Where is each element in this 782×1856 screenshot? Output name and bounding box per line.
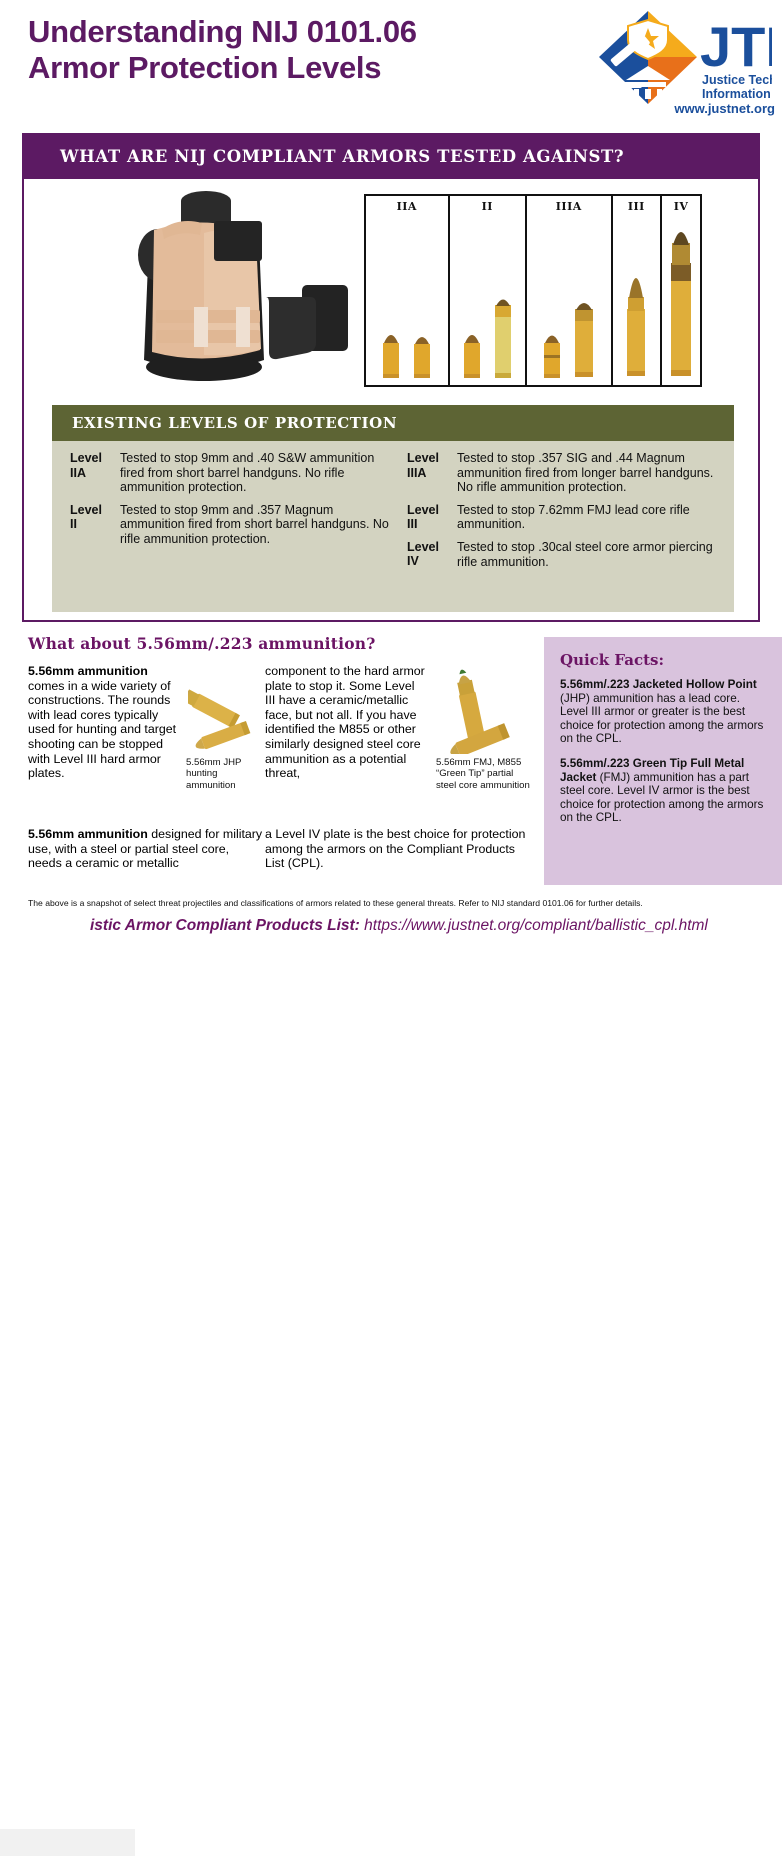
level-value: IV <box>407 554 457 569</box>
ammo-section-heading: What about 5.56mm/.223 ammunition? <box>28 634 376 653</box>
page-title-line1: Understanding NIJ 0101.06 <box>28 14 417 49</box>
ammo-column-ii: II <box>450 196 528 385</box>
ammo-p2-bold: 5.56mm ammunition <box>28 827 148 841</box>
ammo-text-column-a: 5.56mm ammunition comes in a wide variet… <box>28 664 180 781</box>
level-key: Level IIA <box>70 451 120 495</box>
level-item: Level IIIA Tested to stop .357 SIG and .… <box>407 451 727 495</box>
existing-levels-heading: EXISTING LEVELS OF PROTECTION <box>72 414 397 432</box>
existing-levels-panel: EXISTING LEVELS OF PROTECTION Level IIA … <box>52 405 734 612</box>
level-item: Level II Tested to stop 9mm and .357 Mag… <box>70 503 390 547</box>
ammo-column-iia: IIA <box>366 196 450 385</box>
tested-against-heading: WHAT ARE NIJ COMPLIANT ARMORS TESTED AGA… <box>60 147 624 166</box>
quick-fact-item: 5.56mm/.223 Green Tip Full Metal Jacket … <box>560 757 766 825</box>
cartridge-762mm-icon <box>624 251 648 379</box>
threat-level-cartridge-table: IIA II <box>364 194 702 387</box>
level-word: Level <box>407 503 457 518</box>
tested-against-card: WHAT ARE NIJ COMPLIANT ARMORS TESTED AGA… <box>22 133 760 622</box>
level-key: Level IV <box>407 540 457 569</box>
level-word: Level <box>70 451 120 466</box>
level-item: Level IV Tested to stop .30cal steel cor… <box>407 540 727 569</box>
green-tip-cartridge-svg <box>434 664 534 754</box>
cartridge-357magnum-icon <box>492 287 514 379</box>
ammo-column-rounds <box>613 213 661 385</box>
existing-levels-header: EXISTING LEVELS OF PROTECTION <box>52 405 734 441</box>
ammo-column-label: III <box>613 196 661 213</box>
jhp-cartridge-svg <box>188 666 266 754</box>
footer-overlay-box <box>0 1829 135 1856</box>
level-value: IIIA <box>407 466 457 481</box>
ammo-column-rounds <box>450 213 526 385</box>
ammo-p1-rest: comes in a wide variety of constructions… <box>28 679 176 781</box>
footer-note: The above is a snapshot of select threat… <box>28 898 768 908</box>
level-key: Level IIIA <box>407 451 457 495</box>
level-value: IIA <box>70 466 120 481</box>
ammo-text-column-b: component to the hard armor plate to sto… <box>265 664 425 781</box>
cartridge-44magnum-icon <box>572 291 596 379</box>
ammo-column-label: IV <box>662 196 700 213</box>
photo-row: IIA II <box>34 185 752 395</box>
ammo-column-iiia: IIIA <box>527 196 612 385</box>
cartridge-30cal-ap-icon <box>668 219 694 379</box>
levels-column-right: Level IIIA Tested to stop .357 SIG and .… <box>407 451 727 577</box>
quick-facts-title: Quick Facts: <box>560 651 766 669</box>
level-word: Level <box>407 451 457 466</box>
ammo-column-rounds <box>366 213 448 385</box>
level-key: Level III <box>407 503 457 532</box>
level-item: Level III Tested to stop 7.62mm FMJ lead… <box>407 503 727 532</box>
cartridge-40sw-icon <box>411 319 433 379</box>
footer-cpl-url[interactable]: https://www.justnet.org/compliant/ballis… <box>360 917 708 934</box>
level-key: Level II <box>70 503 120 547</box>
logo-subtitle-1: Justice Technology <box>702 73 772 87</box>
page-title-line2: Armor Protection Levels <box>28 50 588 86</box>
level-description: Tested to stop 9mm and .357 Magnum ammun… <box>120 503 390 547</box>
ammo-text-column-b2: a Level IV plate is the best choice for … <box>265 827 530 871</box>
ammo-column-label: IIA <box>366 196 448 213</box>
cartridge-357sig-icon <box>541 321 563 379</box>
cartridge-9mm-icon <box>461 319 483 379</box>
quick-fact-rest: (JHP) ammunition has a lead core. Level … <box>560 692 763 746</box>
page-header: Understanding NIJ 0101.06 Armor Protecti… <box>0 0 782 128</box>
green-tip-cartridge-image <box>434 664 534 754</box>
vest-svg <box>54 185 354 395</box>
level-description: Tested to stop 7.62mm FMJ lead core rifl… <box>457 503 727 532</box>
existing-levels-body: Level IIA Tested to stop 9mm and .40 S&W… <box>52 441 734 612</box>
logo-subtitle-2: Information Center <box>702 87 772 101</box>
ammo-column-rounds <box>527 213 610 385</box>
footer-cpl-label: istic Armor Compliant Products List: <box>90 917 360 934</box>
level-item: Level IIA Tested to stop 9mm and .40 S&W… <box>70 451 390 495</box>
ammo-text-column-a2: 5.56mm ammunition designed for military … <box>28 827 263 871</box>
ammo-paragraph-1: 5.56mm ammunition comes in a wide variet… <box>28 664 180 781</box>
footer-cpl-link[interactable]: istic Armor Compliant Products List: htt… <box>90 917 708 935</box>
jhp-cartridge-caption: 5.56mm JHP hunting ammunition <box>186 757 264 791</box>
ammo-paragraph-2: 5.56mm ammunition designed for military … <box>28 827 263 871</box>
quick-fact-bold: 5.56mm/.223 Jacketed Hollow Point <box>560 678 757 691</box>
ammo-p1-bold: 5.56mm ammunition <box>28 664 148 678</box>
ammo-column-label: II <box>450 196 526 213</box>
cartridge-9mm-icon <box>380 319 402 379</box>
logo-wordmark: JTIC <box>700 15 772 78</box>
tested-against-header: WHAT ARE NIJ COMPLIANT ARMORS TESTED AGA… <box>24 135 758 179</box>
green-tip-cartridge-caption: 5.56mm FMJ, M855 “Green Tip” partial ste… <box>436 757 536 791</box>
level-word: Level <box>70 503 120 518</box>
level-description: Tested to stop .357 SIG and .44 Magnum a… <box>457 451 727 495</box>
logo-diamond-icon <box>599 11 697 104</box>
page-title: Understanding NIJ 0101.06 Armor Protecti… <box>28 14 588 86</box>
quick-fact-item: 5.56mm/.223 Jacketed Hollow Point (JHP) … <box>560 678 766 746</box>
infographic-page: Understanding NIJ 0101.06 Armor Protecti… <box>0 0 782 943</box>
level-description: Tested to stop .30cal steel core armor p… <box>457 540 727 569</box>
ammo-paragraph-3: component to the hard armor plate to sto… <box>265 664 425 781</box>
level-description: Tested to stop 9mm and .40 S&W ammunitio… <box>120 451 390 495</box>
footer-bar: istic Armor Compliant Products List: htt… <box>0 913 782 943</box>
ammo-column-rounds <box>662 213 700 385</box>
level-word: Level <box>407 540 457 555</box>
ammo-column-iv: IV <box>662 196 700 385</box>
ammo-paragraph-4: a Level IV plate is the best choice for … <box>265 827 530 871</box>
body-armor-vest-image <box>54 185 354 395</box>
level-value: II <box>70 517 120 532</box>
quick-facts-panel: Quick Facts: 5.56mm/.223 Jacketed Hollow… <box>544 637 782 885</box>
ammo-column-label: IIIA <box>527 196 610 213</box>
jhp-cartridge-image <box>188 666 266 754</box>
website-link[interactable]: www.justnet.org <box>610 101 775 116</box>
levels-column-left: Level IIA Tested to stop 9mm and .40 S&W… <box>70 451 390 555</box>
level-value: III <box>407 517 457 532</box>
ammo-column-iii: III <box>613 196 663 385</box>
